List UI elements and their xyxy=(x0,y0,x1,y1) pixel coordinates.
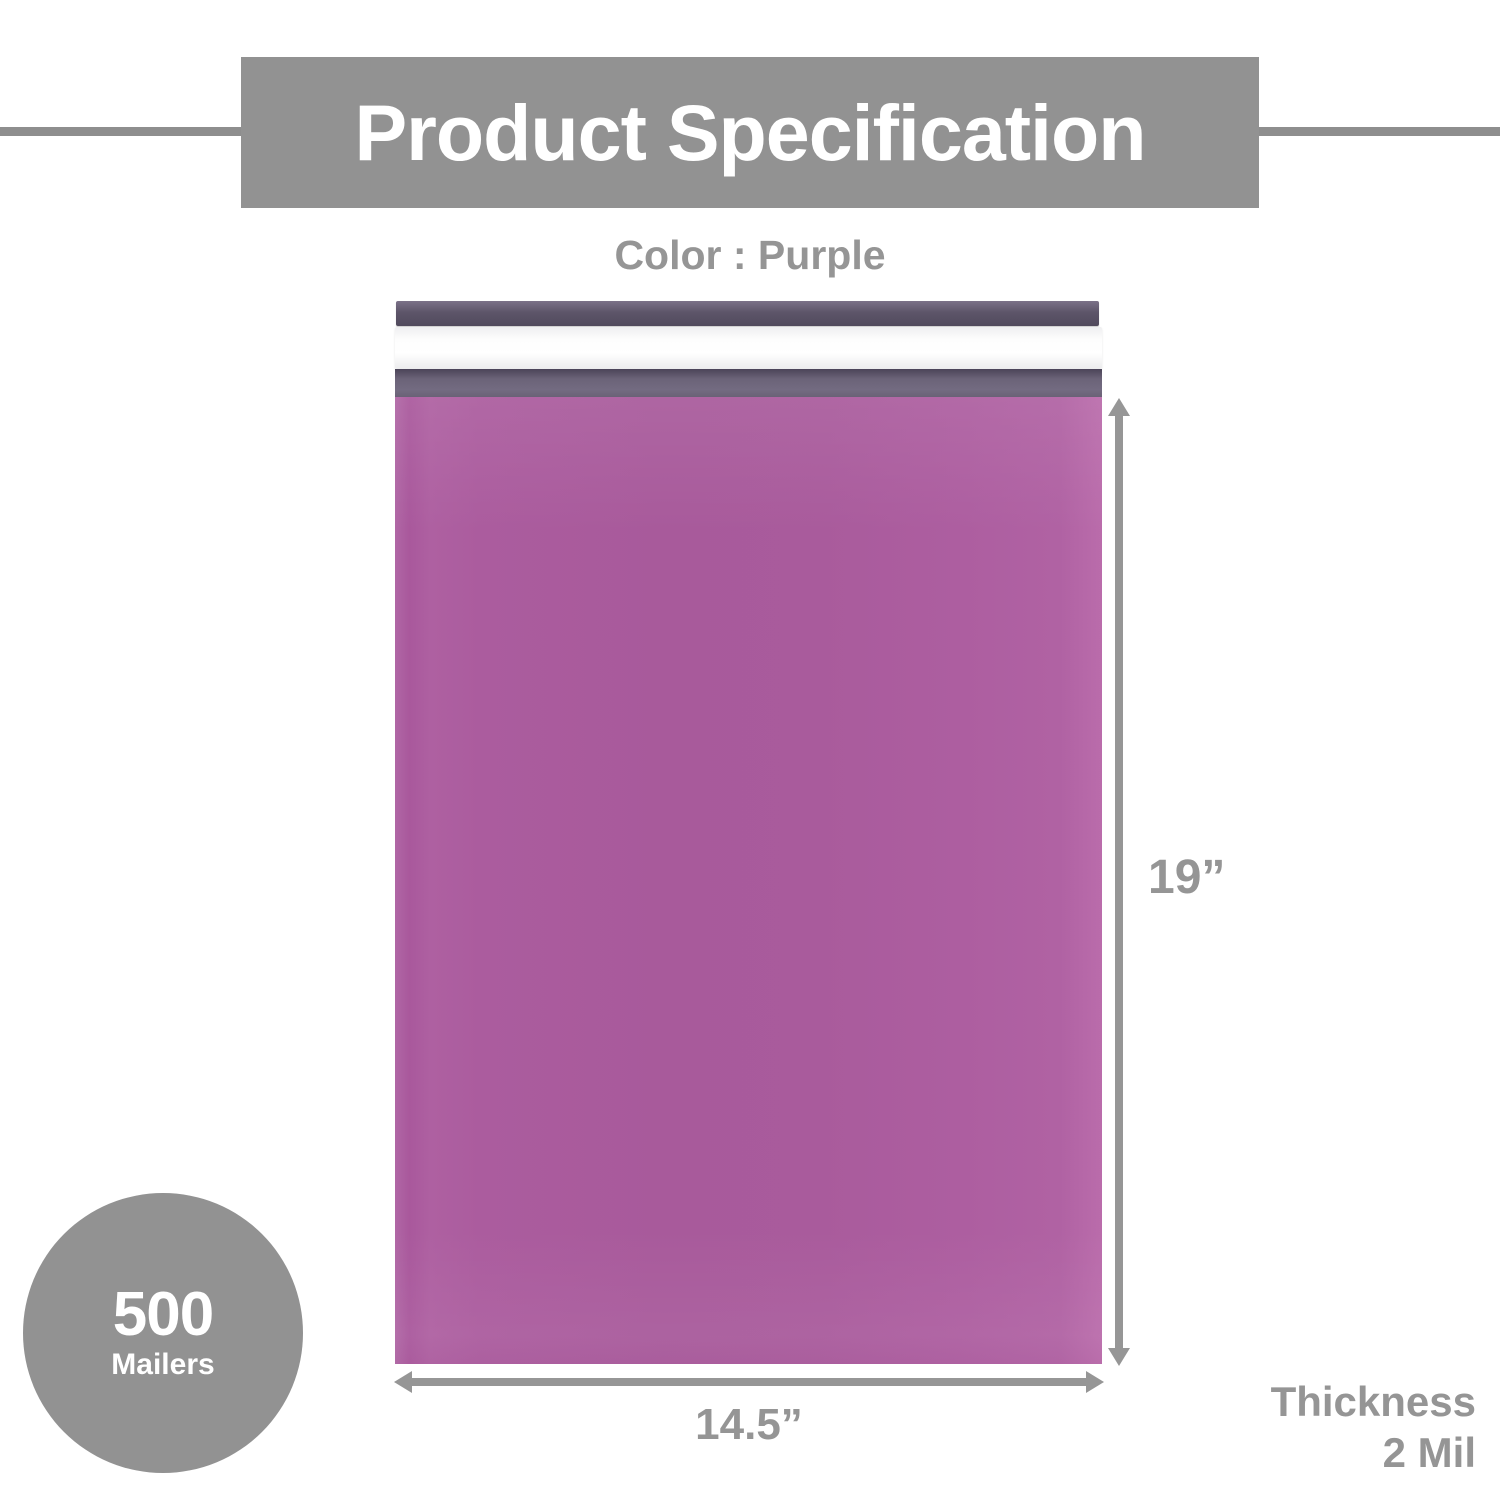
height-dimension-label: 19” xyxy=(1148,850,1225,905)
page-title: Product Specification xyxy=(354,93,1145,172)
width-dimension-line xyxy=(394,1371,1104,1393)
mailer-adhesive-liner-strip xyxy=(395,327,1102,369)
mailer-body-sheen xyxy=(395,397,1102,1364)
mailer-body xyxy=(395,397,1102,1364)
height-dimension-line xyxy=(1108,398,1130,1366)
quantity-badge: 500 Mailers xyxy=(23,1193,303,1473)
header-rule-left xyxy=(0,127,244,136)
arrow-right-icon xyxy=(1086,1371,1104,1393)
quantity-count: 500 xyxy=(113,1285,213,1346)
width-dimension-label: 14.5” xyxy=(394,1400,1104,1450)
mailer-seal-band xyxy=(395,369,1102,397)
header-banner: Product Specification xyxy=(241,57,1259,208)
quantity-unit: Mailers xyxy=(111,1348,214,1381)
thickness-value: 2 Mil xyxy=(1271,1427,1476,1478)
color-spec-label: Color : Purple xyxy=(0,232,1500,279)
header-rule-right xyxy=(1256,127,1500,136)
product-specification-page: Product Specification Color : Purple 19”… xyxy=(0,0,1500,1500)
mailer-flap-top-band xyxy=(396,301,1099,326)
poly-mailer-illustration xyxy=(395,301,1103,1364)
thickness-note: Thickness 2 Mil xyxy=(1271,1376,1476,1478)
thickness-label: Thickness xyxy=(1271,1376,1476,1427)
height-dimension-shaft xyxy=(1115,406,1123,1358)
arrow-down-icon xyxy=(1108,1348,1130,1366)
width-dimension-shaft xyxy=(402,1378,1096,1386)
